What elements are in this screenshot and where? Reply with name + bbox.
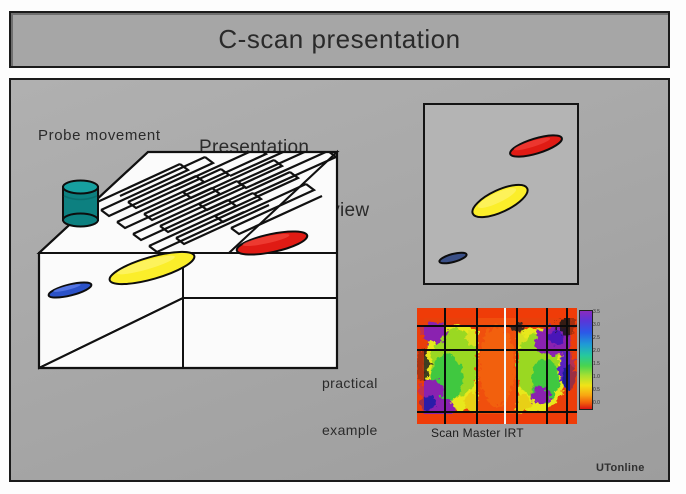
thermal-colorbar [579,310,593,410]
cb-tick-5: 1.0 [593,374,600,380]
thermal-ir-panel: 3.5 3.0 2.5 2.0 1.5 1.0 0.5 0.0 Scan Mas… [417,308,609,426]
thermal-image-canvas [417,308,577,424]
slide-root: C-scan presentation Probe movement Prese… [0,0,686,494]
cb-tick-2: 2.5 [593,335,600,341]
thermal-image [417,308,577,424]
thermal-colorbar-ticks: 3.5 3.0 2.5 2.0 1.5 1.0 0.5 0.0 [593,308,609,412]
probe-cylinder [63,181,98,227]
cb-tick-4: 1.5 [593,361,600,367]
thermal-caption: Scan Master IRT [431,426,524,440]
cb-tick-6: 0.5 [593,387,600,393]
cb-tick-3: 2.0 [593,348,600,354]
cb-tick-1: 3.0 [593,322,600,328]
block-right-face [183,253,337,368]
cb-tick-7: 0.0 [593,400,600,406]
cb-tick-0: 3.5 [593,309,600,315]
